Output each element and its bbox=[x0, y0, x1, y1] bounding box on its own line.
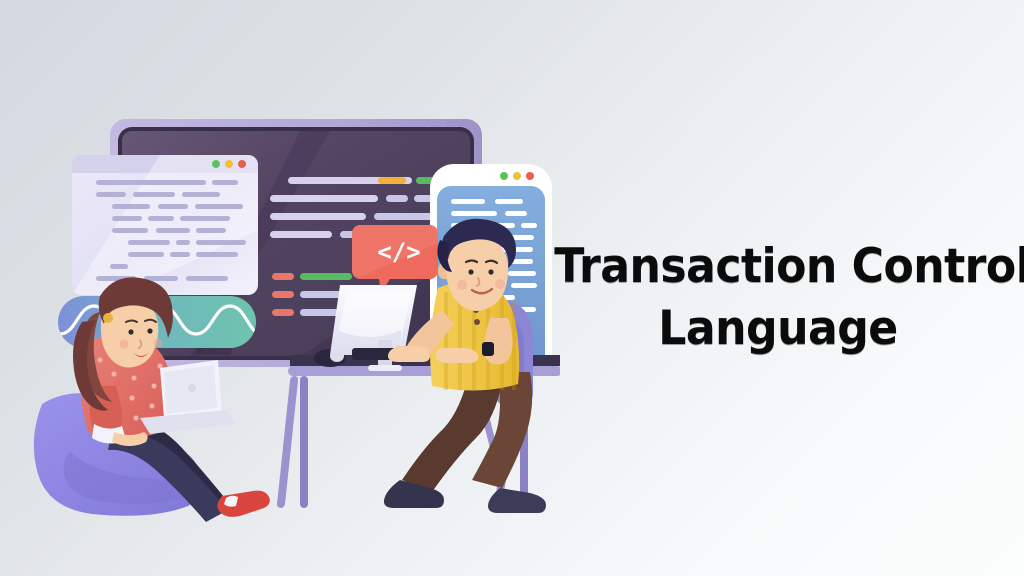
wristwatch bbox=[482, 342, 494, 356]
doc-traffic-light-green bbox=[212, 160, 220, 168]
doc-traffic-light-red bbox=[238, 160, 246, 168]
page-title: Transaction Control Language bbox=[540, 236, 1016, 360]
page-title-line-1: Transaction Control bbox=[554, 236, 1001, 298]
code-bubble-glyph: </> bbox=[377, 238, 420, 266]
phone-traffic-light-yellow bbox=[513, 172, 521, 180]
hair-tie bbox=[103, 313, 113, 323]
phone-traffic-light-green bbox=[500, 172, 508, 180]
code-document-window bbox=[72, 155, 258, 295]
page-title-line-2: Language bbox=[554, 298, 1001, 360]
phone-traffic-light-red bbox=[526, 172, 534, 180]
poster-canvas: </> bbox=[0, 0, 1024, 576]
developers-illustration: </> bbox=[0, 0, 560, 576]
doc-traffic-light-yellow bbox=[225, 160, 233, 168]
